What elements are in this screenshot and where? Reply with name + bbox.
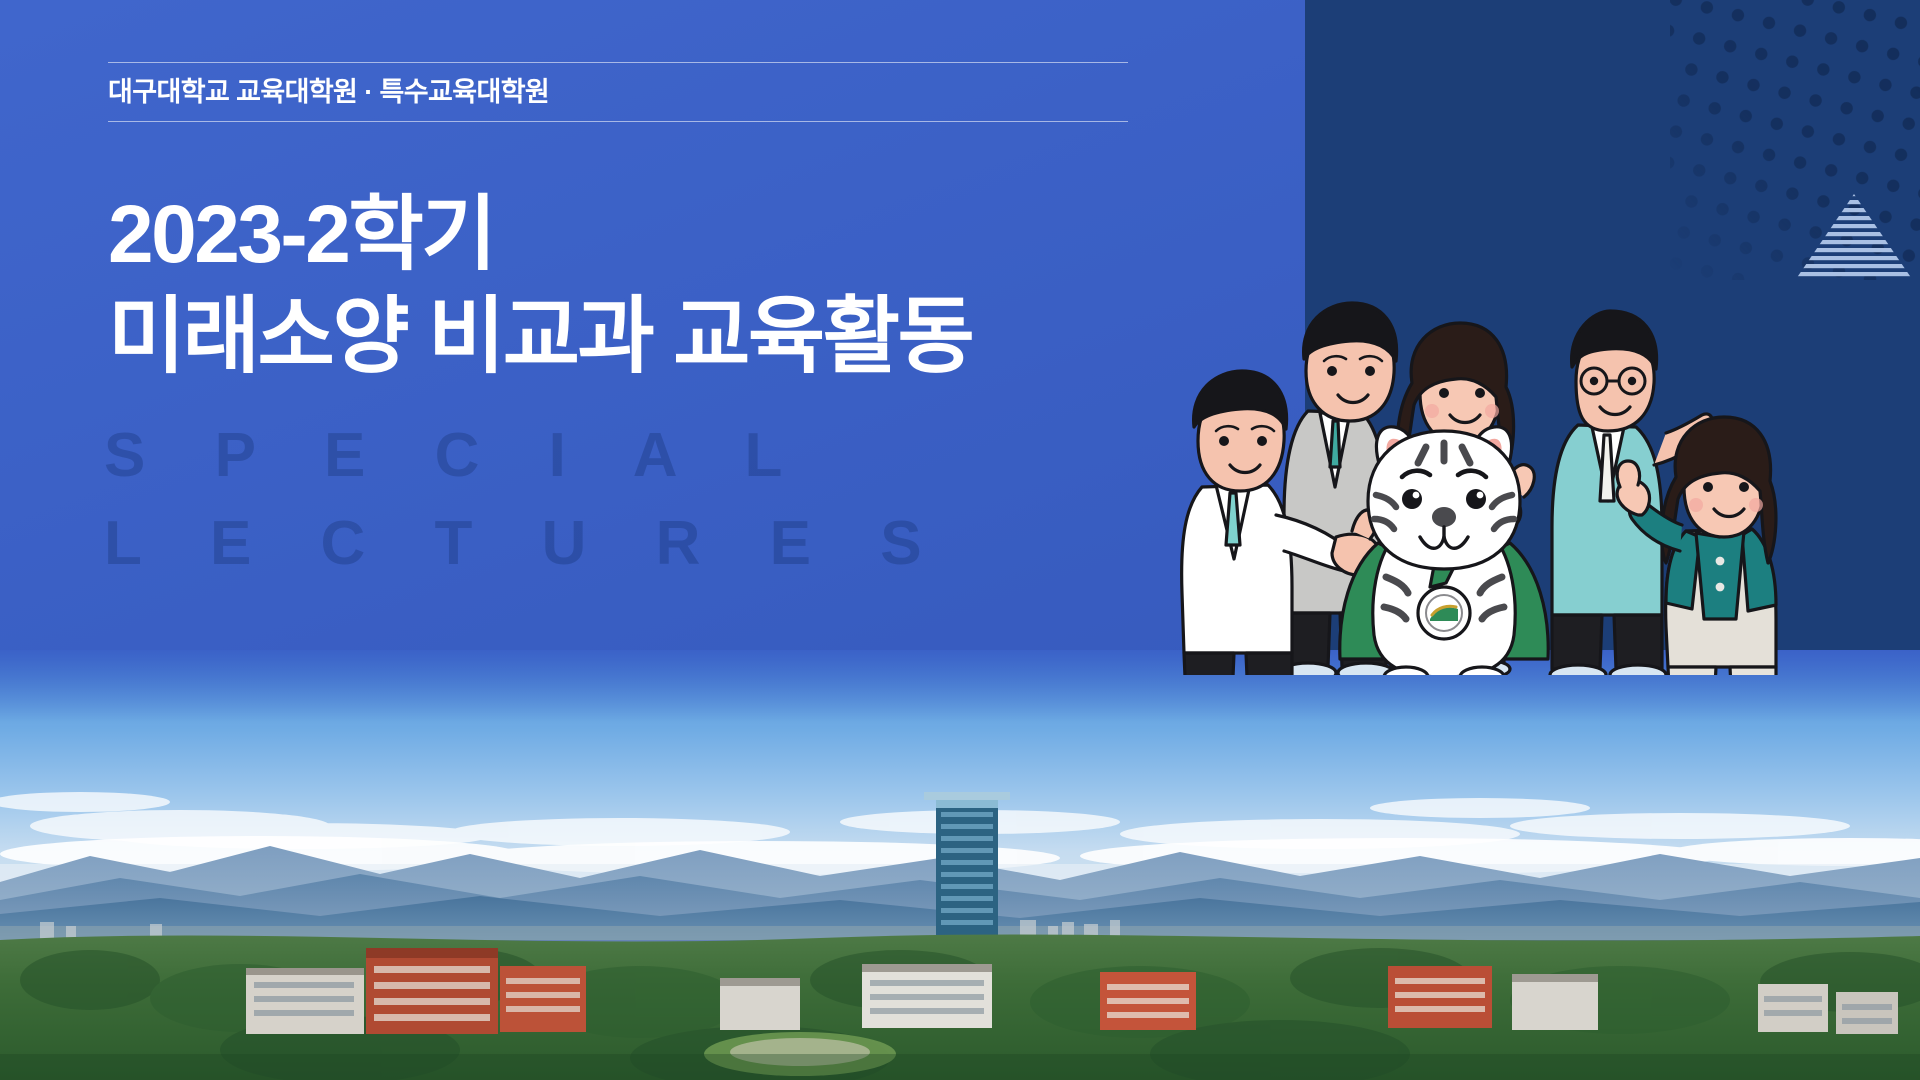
- title-line-semester: 2023-2학기: [108, 185, 972, 285]
- watermark-text: S P E C I A L L E C T U R E S: [104, 412, 948, 588]
- eyebrow-section: 대구대학교 교육대학원 · 특수교육대학원: [108, 62, 1128, 122]
- page-title: 2023-2학기 미래소양 비교과 교육활동: [108, 185, 972, 388]
- student-group-illustration: [1180, 215, 1880, 675]
- campus-photo: [0, 650, 1920, 1080]
- divider-rule-bottom: [108, 121, 1128, 122]
- watermark-line-special: S P E C I A L: [104, 412, 948, 500]
- main-tower-building: [924, 792, 1010, 944]
- title-line-program: 미래소양 비교과 교육활동: [108, 285, 972, 387]
- institution-label: 대구대학교 교육대학원 · 특수교육대학원: [108, 63, 1128, 121]
- watermark-line-lectures: L E C T U R E S: [104, 500, 948, 588]
- banner-text-block: 대구대학교 교육대학원 · 특수교육대학원 2023-2학기 미래소양 비교과 …: [108, 0, 1208, 700]
- promotional-banner: 대구대학교 교육대학원 · 특수교육대학원 2023-2학기 미래소양 비교과 …: [0, 0, 1920, 1080]
